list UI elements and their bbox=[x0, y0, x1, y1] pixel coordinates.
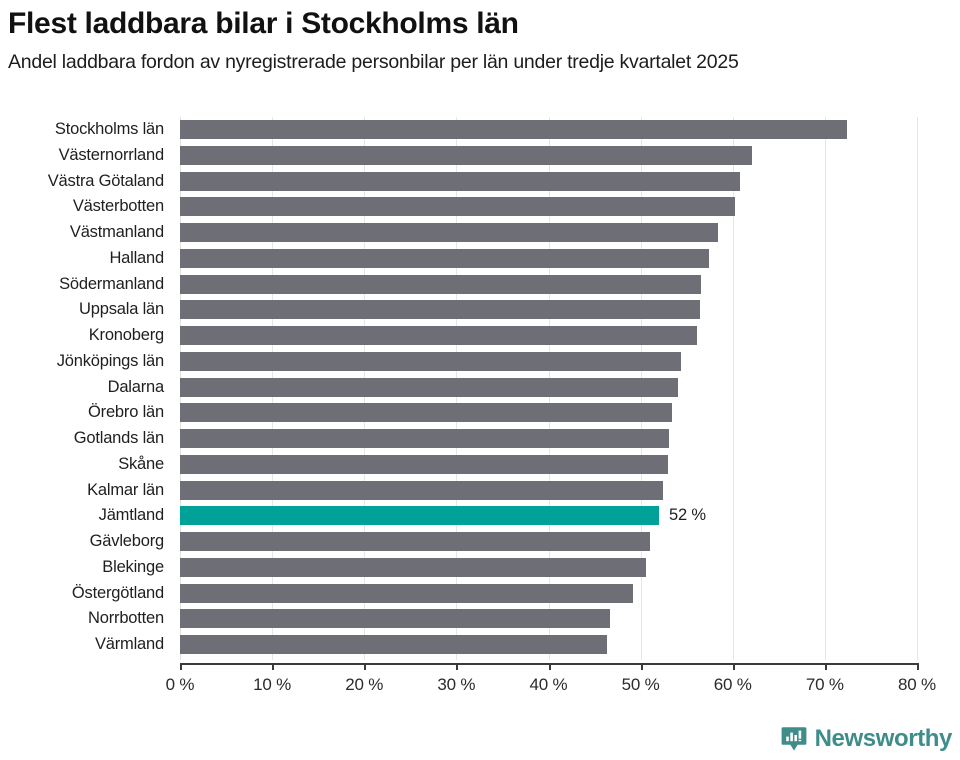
x-tick-label: 70 % bbox=[806, 675, 844, 695]
bar[interactable] bbox=[180, 635, 607, 654]
tick-mark-40 bbox=[549, 663, 551, 670]
bar-row: Blekinge bbox=[180, 558, 917, 577]
category-label: Västerbotten bbox=[73, 197, 164, 216]
brand-name: Newsworthy bbox=[815, 726, 952, 752]
bar[interactable] bbox=[180, 378, 678, 397]
bar-row: Skåne bbox=[180, 455, 917, 474]
bar[interactable] bbox=[180, 584, 633, 603]
x-tick-label: 20 % bbox=[345, 675, 383, 695]
bar[interactable] bbox=[180, 300, 700, 319]
category-label: Kronoberg bbox=[89, 326, 164, 345]
page-title: Flest laddbara bilar i Stockholms län bbox=[8, 6, 958, 42]
x-tick-label: 80 % bbox=[898, 675, 936, 695]
chart-root: Flest laddbara bilar i Stockholms län An… bbox=[0, 0, 960, 760]
x-tick-label: 10 % bbox=[253, 675, 291, 695]
chart-header: Flest laddbara bilar i Stockholms län An… bbox=[8, 6, 958, 74]
tick-mark-10 bbox=[272, 663, 274, 670]
bar-row: Värmland bbox=[180, 635, 917, 654]
bar[interactable] bbox=[180, 146, 752, 165]
newsworthy-logo[interactable]: Newsworthy bbox=[781, 726, 952, 752]
bar-value-label: 52 % bbox=[669, 506, 706, 525]
category-label: Uppsala län bbox=[79, 300, 164, 319]
category-label: Värmland bbox=[95, 635, 164, 654]
chart-subtitle: Andel laddbara fordon av nyregistrerade … bbox=[8, 50, 958, 74]
category-label: Västra Götaland bbox=[48, 172, 164, 191]
bar-row: Jämtland52 % bbox=[180, 506, 917, 525]
tick-mark-50 bbox=[641, 663, 643, 670]
category-label: Östergötland bbox=[72, 584, 164, 603]
bar-row: Kalmar län bbox=[180, 481, 917, 500]
category-label: Kalmar län bbox=[87, 481, 164, 500]
bar-highlighted[interactable] bbox=[180, 506, 659, 525]
bar[interactable] bbox=[180, 429, 669, 448]
x-tick-label: 60 % bbox=[714, 675, 752, 695]
bar-row: Halland bbox=[180, 249, 917, 268]
bar[interactable] bbox=[180, 481, 663, 500]
bar-row: Stockholms län bbox=[180, 120, 917, 139]
tick-mark-20 bbox=[364, 663, 366, 670]
category-label: Norrbotten bbox=[88, 609, 164, 628]
tick-mark-60 bbox=[733, 663, 735, 670]
category-label: Västmanland bbox=[70, 223, 164, 242]
x-tick-label: 0 % bbox=[166, 675, 195, 695]
bar[interactable] bbox=[180, 223, 718, 242]
category-label: Jönköpings län bbox=[57, 352, 164, 371]
tick-mark-80 bbox=[917, 663, 919, 670]
bar[interactable] bbox=[180, 172, 740, 191]
tick-mark-70 bbox=[825, 663, 827, 670]
bar[interactable] bbox=[180, 352, 681, 371]
bar-row: Västernorrland bbox=[180, 146, 917, 165]
x-tick-label: 40 % bbox=[530, 675, 568, 695]
category-label: Gotlands län bbox=[74, 429, 164, 448]
bar-row: Västmanland bbox=[180, 223, 917, 242]
bars-container: Stockholms länVästernorrlandVästra Götal… bbox=[180, 117, 917, 660]
category-label: Gävleborg bbox=[90, 532, 164, 551]
bar-row: Västerbotten bbox=[180, 197, 917, 216]
bar-row: Kronoberg bbox=[180, 326, 917, 345]
bar-row: Gävleborg bbox=[180, 532, 917, 551]
bar-row: Norrbotten bbox=[180, 609, 917, 628]
bar[interactable] bbox=[180, 197, 735, 216]
category-label: Stockholms län bbox=[55, 120, 164, 139]
bar[interactable] bbox=[180, 403, 672, 422]
bar[interactable] bbox=[180, 249, 709, 268]
bar-row: Uppsala län bbox=[180, 300, 917, 319]
category-label: Dalarna bbox=[108, 378, 164, 397]
category-label: Örebro län bbox=[88, 403, 164, 422]
bar[interactable] bbox=[180, 532, 650, 551]
tick-mark-30 bbox=[456, 663, 458, 670]
x-tick-label: 50 % bbox=[622, 675, 660, 695]
category-label: Blekinge bbox=[102, 558, 164, 577]
bar-row: Östergötland bbox=[180, 584, 917, 603]
category-label: Halland bbox=[109, 249, 164, 268]
bar[interactable] bbox=[180, 609, 610, 628]
bar[interactable] bbox=[180, 275, 701, 294]
category-label: Jämtland bbox=[99, 506, 164, 525]
bar-row: Dalarna bbox=[180, 378, 917, 397]
bar-row: Gotlands län bbox=[180, 429, 917, 448]
bar[interactable] bbox=[180, 120, 847, 139]
bar-row: Västra Götaland bbox=[180, 172, 917, 191]
category-label: Västernorrland bbox=[59, 146, 164, 165]
x-axis-line bbox=[180, 663, 918, 665]
newsworthy-bubble-icon bbox=[781, 726, 807, 752]
category-label: Skåne bbox=[118, 455, 164, 474]
bar-row: Södermanland bbox=[180, 275, 917, 294]
bar[interactable] bbox=[180, 455, 668, 474]
gridline-80 bbox=[917, 117, 918, 660]
bar-row: Örebro län bbox=[180, 403, 917, 422]
bar[interactable] bbox=[180, 326, 697, 345]
category-label: Södermanland bbox=[59, 275, 164, 294]
bar[interactable] bbox=[180, 558, 646, 577]
tick-mark-0 bbox=[180, 663, 182, 670]
x-tick-label: 30 % bbox=[437, 675, 475, 695]
bar-row: Jönköpings län bbox=[180, 352, 917, 371]
